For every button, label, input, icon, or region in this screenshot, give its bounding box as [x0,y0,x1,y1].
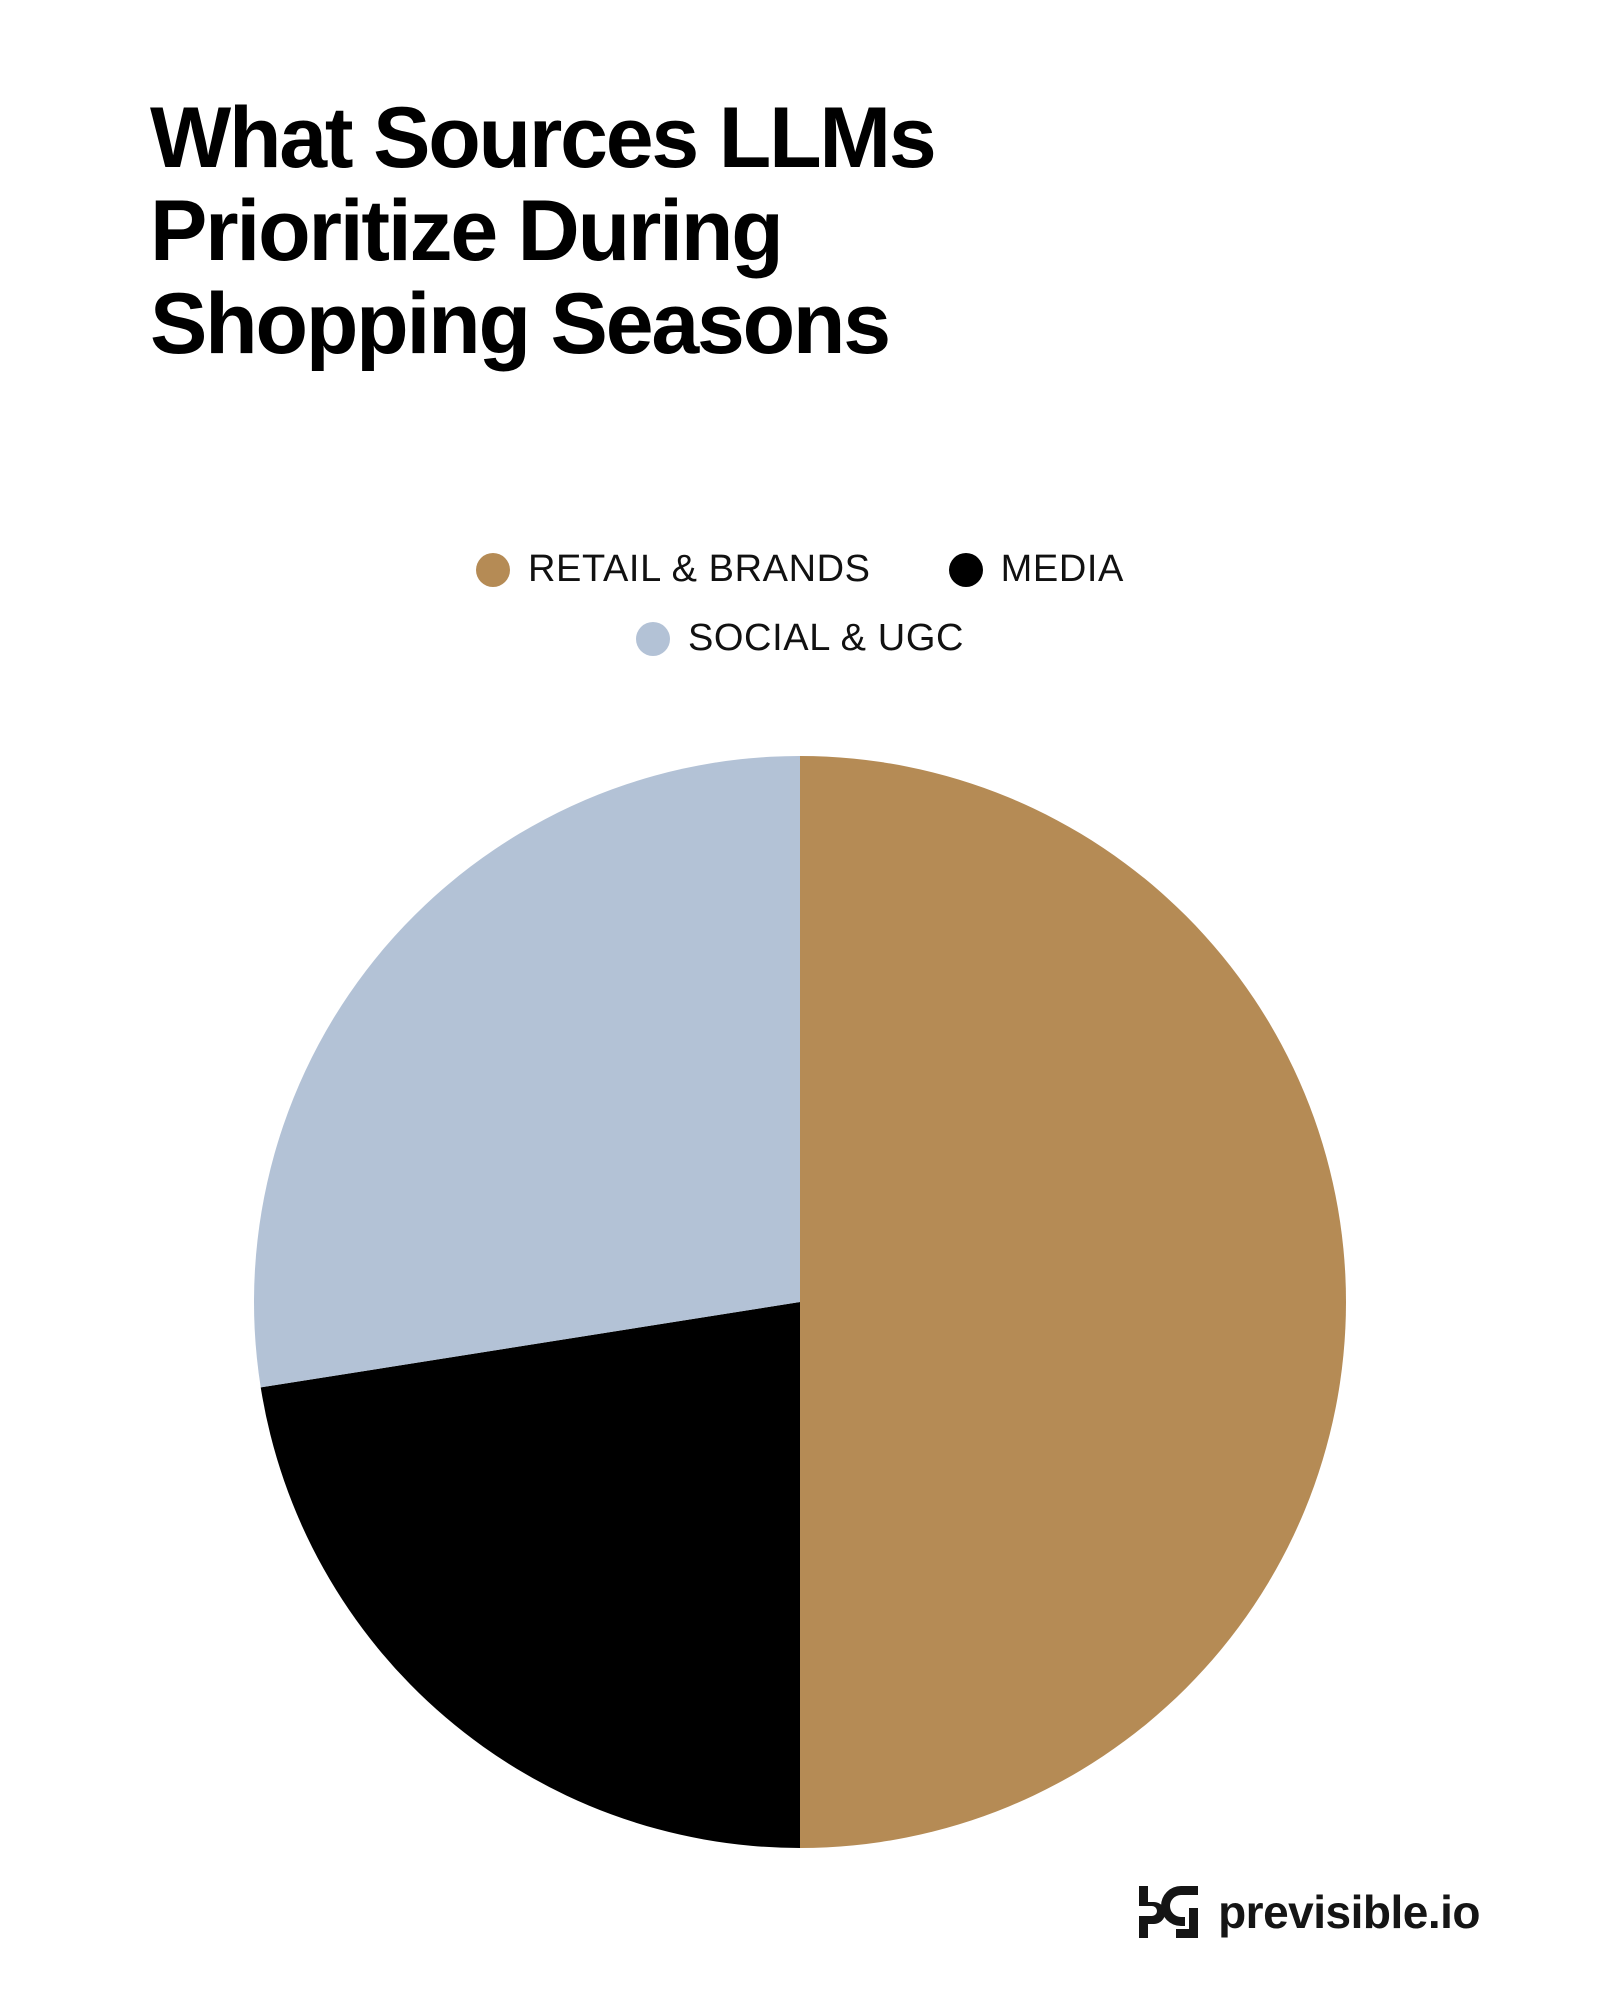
chart-legend: RETAIL & BRANDS MEDIA SOCIAL & UGC [0,548,1600,660]
legend-item-retail-and-brands[interactable]: RETAIL & BRANDS [476,548,871,591]
legend-label: MEDIA [1001,548,1124,591]
pie-slice-social-ugc[interactable] [254,756,800,1387]
legend-item-media[interactable]: MEDIA [949,548,1124,591]
legend-label: SOCIAL & UGC [688,617,964,660]
poster-canvas: What Sources LLMs Prioritize During Shop… [0,0,1600,2000]
legend-label: RETAIL & BRANDS [528,548,871,591]
circle-icon [949,553,983,587]
title-line-1: What Sources LLMs [150,92,1350,185]
title-line-3: Shopping Seasons [150,278,1350,371]
page-title: What Sources LLMs Prioritize During Shop… [150,92,1350,371]
pie-slice-retail-brands[interactable] [800,756,1346,1848]
circle-icon [636,622,670,656]
brand-logo[interactable]: previsible.io [1136,1884,1480,1940]
legend-row-1: RETAIL & BRANDS MEDIA [0,548,1600,591]
legend-row-2: SOCIAL & UGC [0,617,1600,660]
title-line-2: Prioritize During [150,185,1350,278]
previsible-monogram-icon [1136,1884,1202,1940]
brand-name: previsible.io [1218,1885,1480,1939]
pie-slice-media[interactable] [261,1302,800,1848]
legend-item-social-and-ugc[interactable]: SOCIAL & UGC [636,617,964,660]
circle-icon [476,553,510,587]
